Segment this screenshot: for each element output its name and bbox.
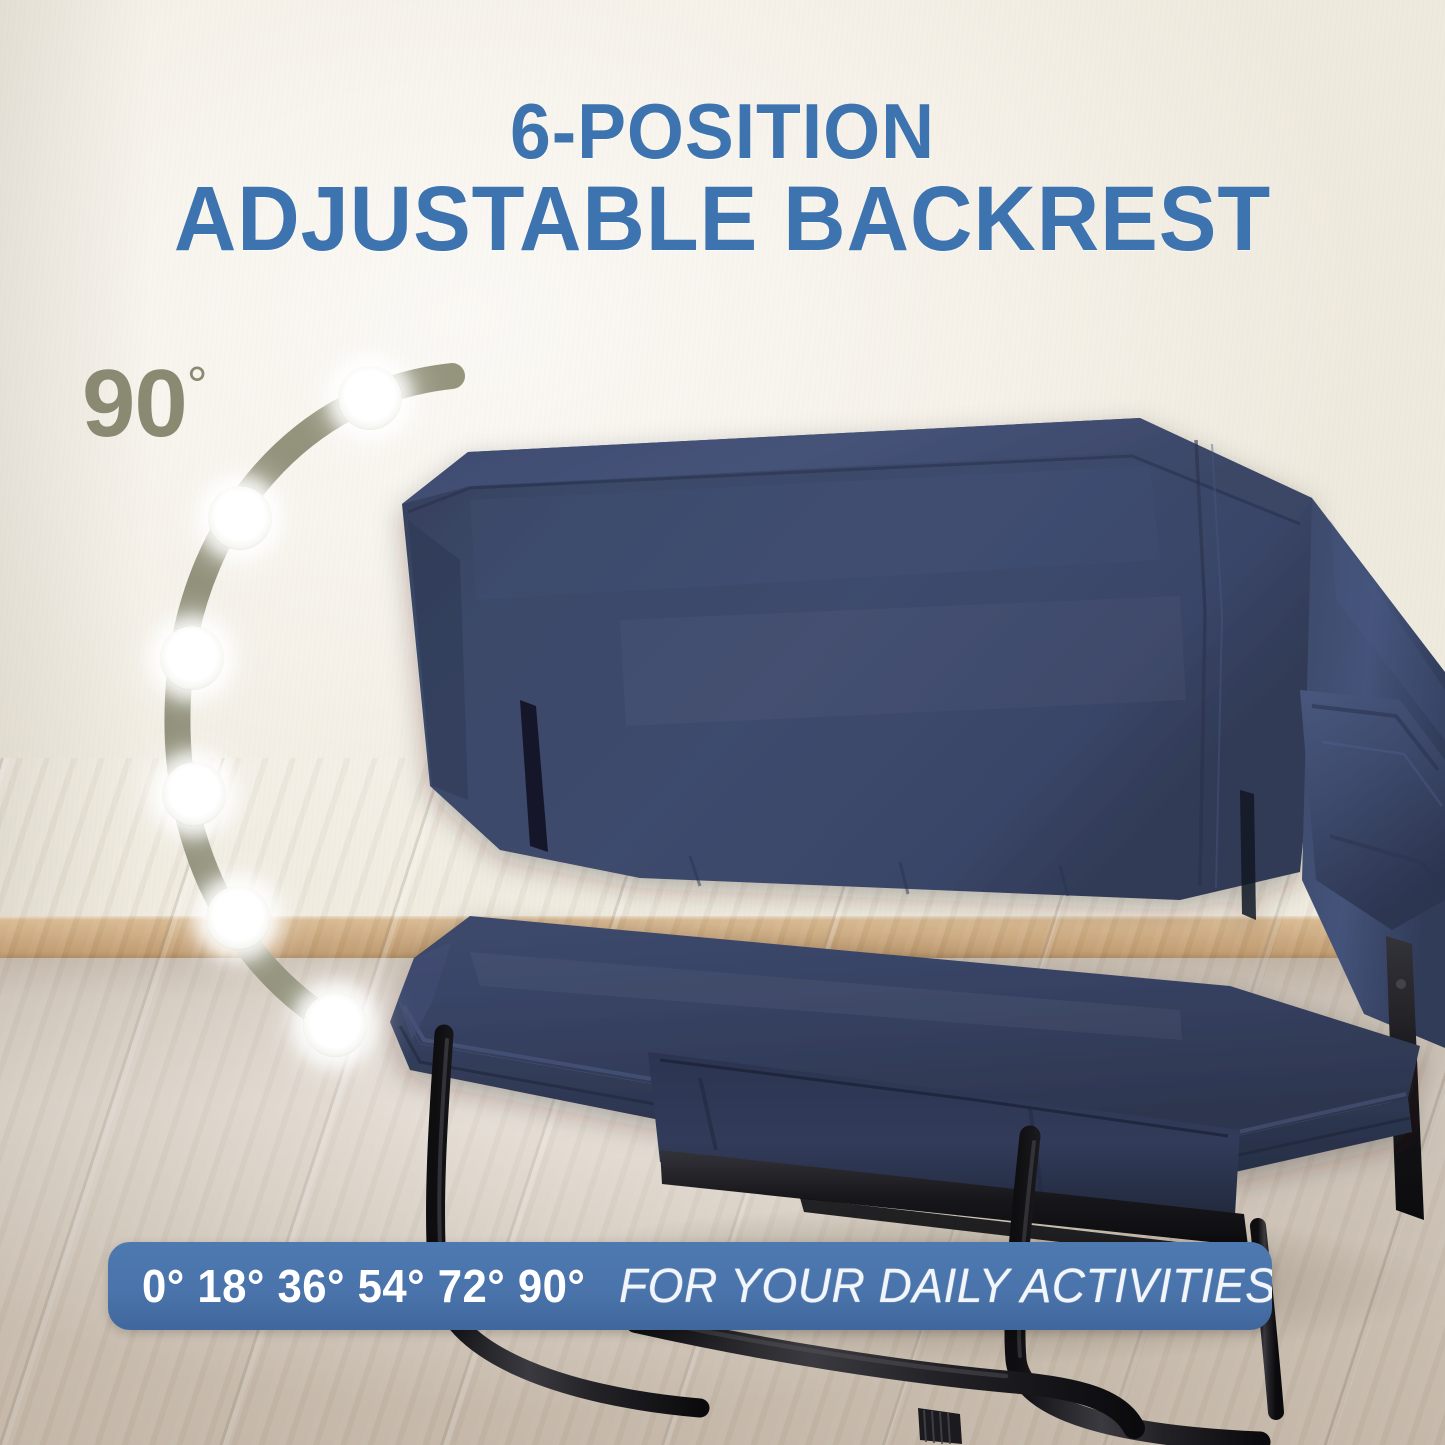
page-title: 6-POSITION ADJUSTABLE BACKREST [0, 92, 1445, 269]
angle-value: 90 [82, 350, 187, 457]
leg-foot-cap [918, 1408, 962, 1444]
banner-tagline: FOR YOUR DAILY ACTIVITIES [619, 1259, 1272, 1314]
headline-line-2: ADJUSTABLE BACKREST [43, 170, 1401, 269]
angle-label: 90° [82, 356, 207, 452]
headline-line-1: 6-POSITION [43, 92, 1401, 170]
banner-degrees-list: 0° 18° 36° 54° 72° 90° [142, 1259, 585, 1313]
product-marketing-image: 90° 6-POSITION ADJUSTABLE BACKREST 0° 18… [0, 0, 1445, 1445]
positions-banner: 0° 18° 36° 54° 72° 90° FOR YOUR DAILY AC… [108, 1242, 1272, 1330]
degree-symbol-icon: ° [187, 357, 207, 415]
backrest-panel [402, 418, 1318, 920]
